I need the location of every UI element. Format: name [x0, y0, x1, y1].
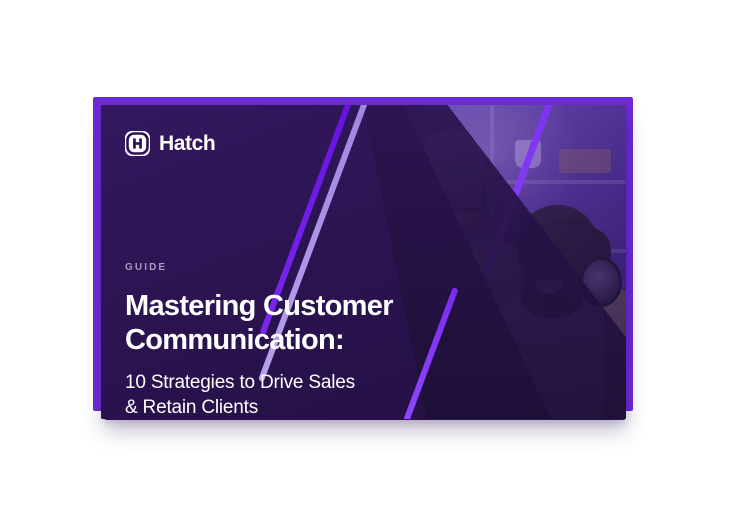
brand-wordmark: Hatch	[159, 133, 215, 154]
subheadline-line-1: 10 Strategies to Drive Sales	[125, 372, 355, 393]
page-canvas: Hatch GUIDE Mastering Customer Communica…	[0, 0, 730, 520]
brand-logo-lockup[interactable]: Hatch	[125, 131, 427, 156]
cover-headline: Mastering Customer Communication:	[125, 289, 427, 357]
headline-line-1: Mastering Customer	[125, 290, 393, 322]
cover-content: Hatch GUIDE Mastering Customer Communica…	[101, 105, 427, 419]
ebook-cover-card[interactable]: Hatch GUIDE Mastering Customer Communica…	[101, 105, 626, 419]
subheadline-line-2: & Retain Clients	[125, 396, 425, 419]
hatch-h-mark-icon	[125, 131, 150, 156]
headline-line-2: Communication:	[125, 323, 427, 357]
eyebrow-label: GUIDE	[125, 262, 427, 273]
cover-subheadline: 10 Strategies to Drive Sales & Retain Cl…	[125, 371, 425, 419]
